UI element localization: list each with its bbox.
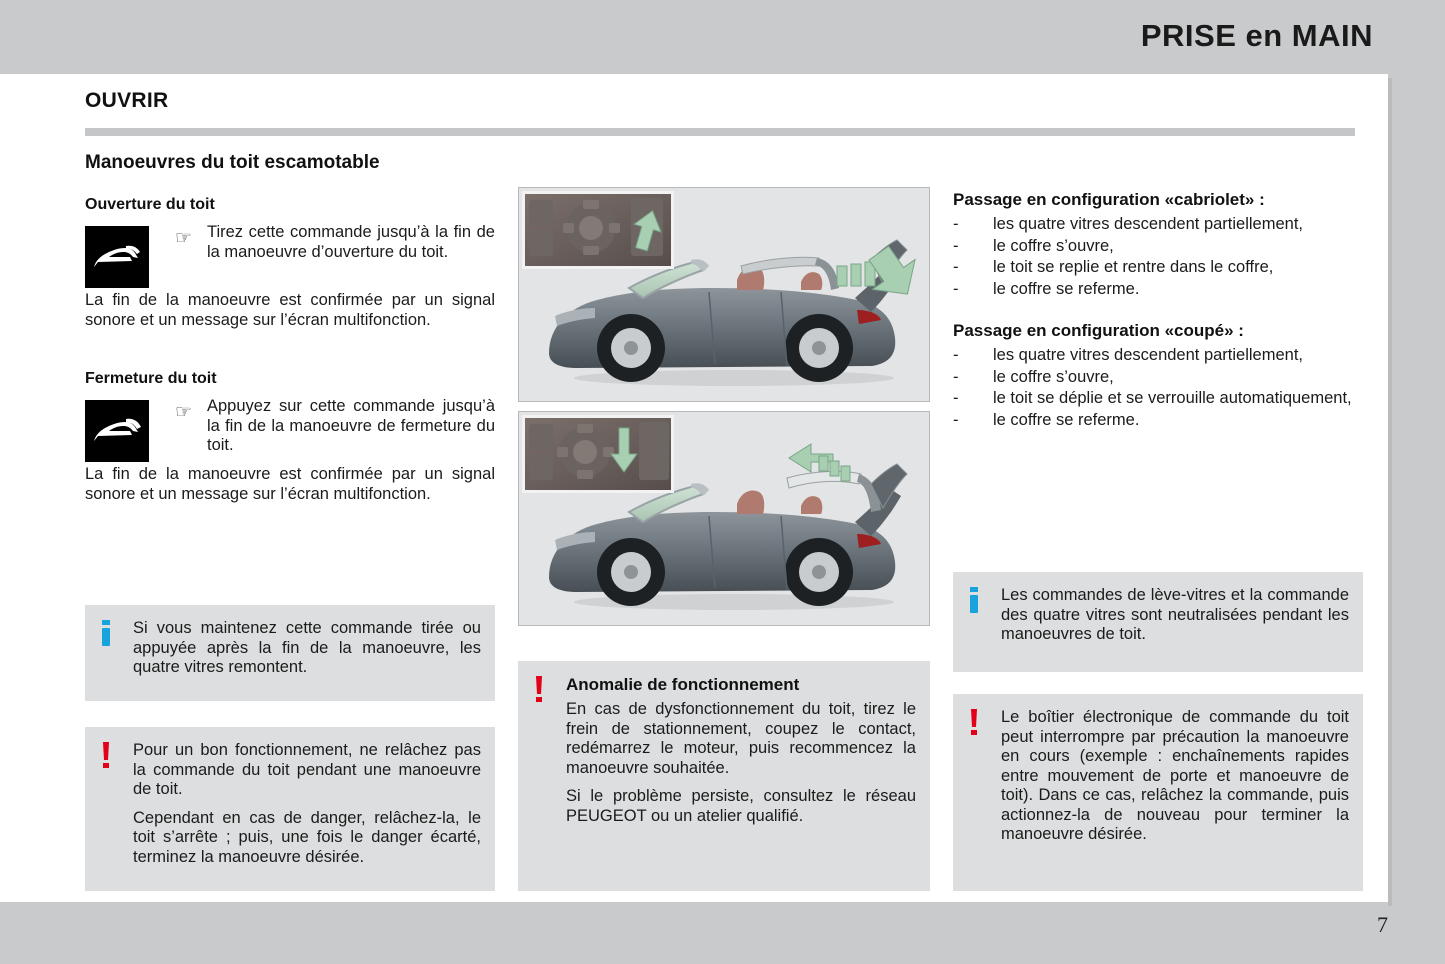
list-item-label: le coffre se referme. xyxy=(993,280,1139,298)
close-roof-confirmation: La fin de la manoeuvre est confirmée par… xyxy=(85,465,495,504)
list-item-label: le toit se replie et rentre dans le coff… xyxy=(993,258,1273,276)
list-item-label: le toit se déplie et se verrouille autom… xyxy=(993,389,1352,407)
note-warn-text: Le boîtier électronique de commande du t… xyxy=(1001,708,1349,845)
heading-configuration-coupe: Passage en configuration «coupé» : xyxy=(953,321,1365,341)
note-anomalie-de-fonctionnement: Anomalie de fonctionnement En cas de dys… xyxy=(518,661,930,891)
note-warn-text-1: Pour un bon fonctionnement, ne relâchez … xyxy=(133,741,481,800)
list-item: -le toit se replie et rentre dans le cof… xyxy=(953,258,1365,278)
dash-bullet: - xyxy=(953,215,959,235)
list-item-label: le coffre s’ouvre, xyxy=(993,237,1114,255)
list-item: -le coffre s’ouvre, xyxy=(953,237,1365,257)
note-info-windows-raise: Si vous maintenez cette commande tirée o… xyxy=(85,605,495,701)
list-item-label: le coffre s’ouvre, xyxy=(993,368,1114,386)
note-warning-electronic-control-unit: Le boîtier électronique de commande du t… xyxy=(953,694,1363,891)
dash-bullet: - xyxy=(953,258,959,278)
open-roof-instruction: Tirez cette commande jusqu’à la fin de l… xyxy=(207,223,495,262)
dash-bullet: - xyxy=(953,346,959,366)
anomaly-text-1: En cas de dysfonctionnement du toit, tir… xyxy=(566,700,916,778)
note-info-text: Les commandes de lève-vitres et la comma… xyxy=(1001,586,1349,645)
pointing-hand-icon: ☞ xyxy=(175,403,192,422)
list-item: -le coffre s’ouvre, xyxy=(953,368,1365,388)
page-title: PRISE en MAIN xyxy=(1141,18,1373,54)
right-column: Passage en configuration «cabriolet» : -… xyxy=(953,190,1365,448)
list-item-label: les quatre vitres descendent partielleme… xyxy=(993,215,1303,233)
dash-bullet: - xyxy=(953,389,959,409)
pointing-hand-icon: ☞ xyxy=(175,229,192,248)
list-item: -le coffre se referme. xyxy=(953,411,1365,431)
dash-bullet: - xyxy=(953,368,959,388)
dash-bullet: - xyxy=(953,411,959,431)
coupe-steps-list: -les quatre vitres descendent partiellem… xyxy=(953,346,1365,430)
dash-bullet: - xyxy=(953,237,959,257)
warning-icon xyxy=(532,676,546,702)
note-info-text: Si vous maintenez cette commande tirée o… xyxy=(133,619,481,678)
open-roof-confirmation: La fin de la manoeuvre est confirmée par… xyxy=(85,291,495,330)
list-item-label: les quatre vitres descendent partielleme… xyxy=(993,346,1303,364)
anomaly-text-2: Si le problème persiste, consultez le ré… xyxy=(566,787,916,826)
cabriolet-roof-closing-illustration xyxy=(518,411,930,626)
heading-fermeture-du-toit: Fermeture du toit xyxy=(85,370,495,388)
sheet-shadow xyxy=(1388,78,1392,906)
info-icon xyxy=(99,620,113,646)
page-number: 7 xyxy=(1377,912,1388,938)
list-item-label: le coffre se referme. xyxy=(993,411,1139,429)
anomaly-heading: Anomalie de fonctionnement xyxy=(566,675,916,695)
cabriolet-roof-opening-illustration xyxy=(518,187,930,402)
info-icon xyxy=(967,587,981,613)
warning-icon xyxy=(967,709,981,735)
list-item: -les quatre vitres descendent partiellem… xyxy=(953,215,1365,235)
car-roof-open-icon xyxy=(85,226,149,288)
section-title: OUVRIR xyxy=(85,89,168,113)
heading-ouverture-du-toit: Ouverture du toit xyxy=(85,196,495,214)
heading-configuration-cabriolet: Passage en configuration «cabriolet» : xyxy=(953,190,1365,210)
cabriolet-steps-list: -les quatre vitres descendent partiellem… xyxy=(953,215,1365,299)
open-roof-command-block: ☞ Tirez cette commande jusqu’à la fin de… xyxy=(85,223,495,285)
section-subtitle: Manoeuvres du toit escamotable xyxy=(85,152,380,174)
section-divider xyxy=(85,128,1355,136)
list-item: -le coffre se referme. xyxy=(953,280,1365,300)
car-roof-close-icon xyxy=(85,400,149,462)
dash-bullet: - xyxy=(953,280,959,300)
list-item: -le toit se déplie et se verrouille auto… xyxy=(953,389,1365,409)
note-warn-text-2: Cependant en cas de danger, relâchez-la,… xyxy=(133,809,481,868)
warning-icon xyxy=(99,742,113,768)
left-column: Ouverture du toit ☞ Tirez cette commande… xyxy=(85,196,495,504)
page-header-band: PRISE en MAIN xyxy=(0,0,1445,74)
close-roof-instruction: Appuyez sur cette commande jusqu’à la fi… xyxy=(207,397,495,456)
note-warning-hold-command: Pour un bon fonctionnement, ne relâchez … xyxy=(85,727,495,891)
list-item: -les quatre vitres descendent partiellem… xyxy=(953,346,1365,366)
close-roof-command-block: ☞ Appuyez sur cette commande jusqu’à la … xyxy=(85,397,495,459)
note-info-window-controls-disabled: Les commandes de lève-vitres et la comma… xyxy=(953,572,1363,672)
manual-page: PRISE en MAIN OUVRIR Manoeuvres du toit … xyxy=(0,0,1445,964)
